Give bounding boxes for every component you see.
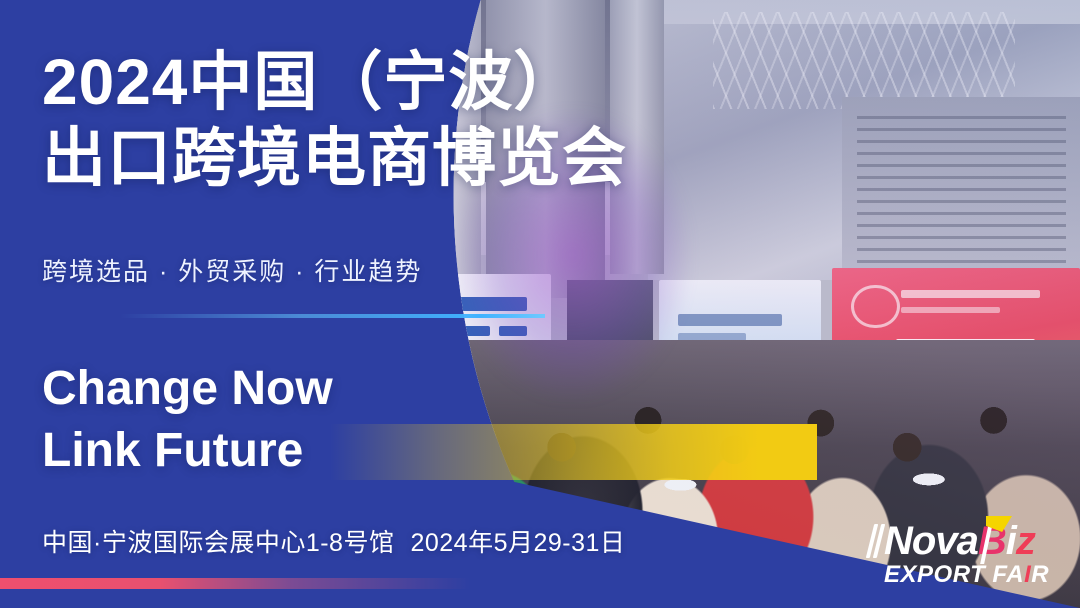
logo-tagline-part1: EXPORT FA <box>884 561 1024 588</box>
right-building <box>842 97 1080 279</box>
date-text: 2024年5月29-31日 <box>410 529 625 557</box>
logo-nova: Nova <box>884 519 978 563</box>
novabiz-logo: NovaBiz EXPORT FAIR <box>868 518 1058 592</box>
slogan: Change Now Link Future <box>42 358 333 482</box>
yellow-accent-band <box>330 424 817 480</box>
cyan-divider-line <box>0 314 545 318</box>
title-line-1: 2024中国（宁波） <box>42 46 578 118</box>
logo-z: z <box>1016 519 1035 563</box>
pink-accent-bar <box>0 578 470 589</box>
logo-wordmark: NovaBiz <box>884 518 1035 564</box>
venue-and-date: 中国·宁波国际会展中心1-8号馆2024年5月29-31日 <box>42 523 625 559</box>
slogan-line-1: Change Now <box>42 358 333 420</box>
roof-truss <box>713 12 1015 109</box>
slogan-line-2: Link Future <box>42 420 333 482</box>
venue-text: 中国·宁波国际会展中心1-8号馆 <box>42 529 394 557</box>
title-line-2: 出口跨境电商博览会 <box>42 120 627 196</box>
logo-tagline-part2: R <box>1031 561 1049 588</box>
logo-i: i <box>1006 519 1016 563</box>
subtitle-themes: 跨境选品 · 外贸采购 · 行业趋势 <box>42 252 422 288</box>
logo-tagline: EXPORT FAIR <box>884 562 1049 588</box>
page-title: 2024中国（宁波） 出口跨境电商博览会 <box>42 44 627 196</box>
poster-canvas: 2024中国（宁波） 出口跨境电商博览会 跨境选品 · 外贸采购 · 行业趋势 … <box>0 0 1080 608</box>
